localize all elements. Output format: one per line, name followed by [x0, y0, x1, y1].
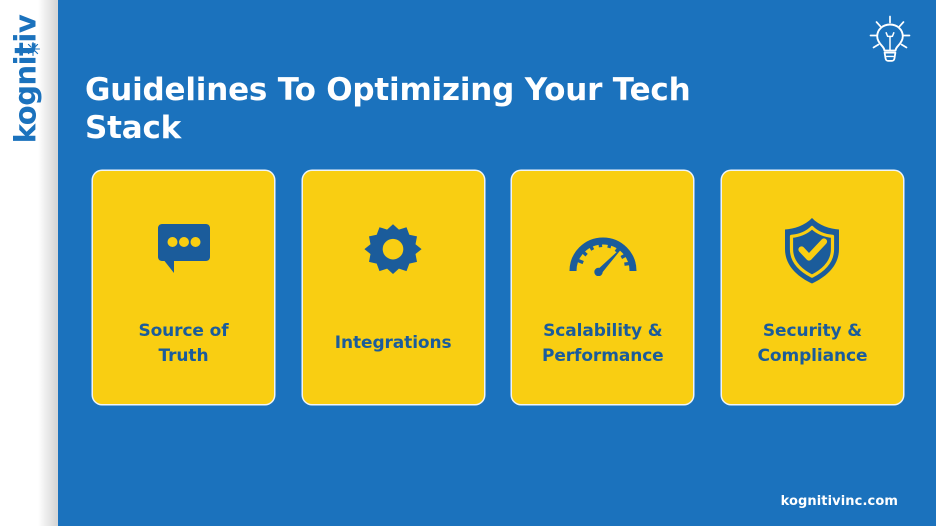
- card-label: Integrations: [311, 331, 476, 356]
- slide: kognitiv: [0, 0, 936, 526]
- gauge-icon: [567, 226, 639, 276]
- card-icon-wrap: [774, 213, 850, 289]
- card-security-compliance[interactable]: Security & Compliance: [722, 171, 903, 404]
- lightbulb-icon: [864, 14, 916, 68]
- gear-icon: [363, 221, 423, 281]
- footer-website[interactable]: kognitivinc.com: [781, 494, 898, 509]
- card-source-of-truth[interactable]: Source of Truth: [93, 171, 274, 404]
- feature-cards: Source of Truth Integrations: [93, 171, 903, 404]
- card-label: Security & Compliance: [730, 319, 895, 369]
- sparkle-icon: [25, 41, 41, 57]
- card-label: Scalability & Performance: [520, 319, 685, 369]
- card-label: Source of Truth: [101, 319, 266, 369]
- card-integrations[interactable]: Integrations: [303, 171, 484, 404]
- speech-bubble-icon: [152, 219, 216, 283]
- brand-logo-rotated: kognitiv: [12, 15, 41, 143]
- page-title: Guidelines To Optimizing Your Tech Stack: [85, 71, 725, 147]
- card-scalability-performance[interactable]: Scalability & Performance: [512, 171, 693, 404]
- brand-logo[interactable]: kognitiv: [0, 14, 52, 144]
- shield-check-icon: [779, 216, 845, 286]
- card-icon-wrap: [146, 213, 222, 289]
- brand-logo-text: kognitiv: [12, 15, 41, 143]
- card-icon-wrap: [355, 213, 431, 289]
- card-icon-wrap: [565, 213, 641, 289]
